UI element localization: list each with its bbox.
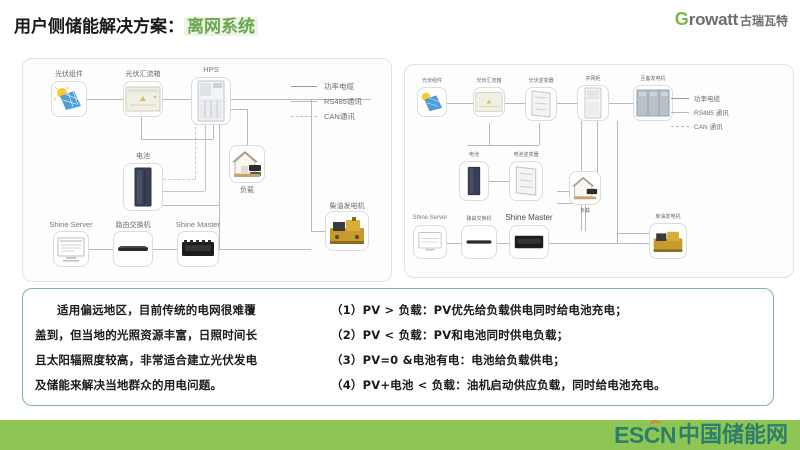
legend-swatch-can	[291, 116, 317, 117]
rule-item-3: （3）PV=0 &电池有电：电池给负载供电；	[331, 348, 765, 373]
wire-r-pv-to-combiner	[447, 103, 473, 104]
router-switch-icon	[117, 243, 149, 255]
offgrid-diagram-right: 光伏组件 光伏汇流箱 光伏逆变器 并网柜	[404, 64, 794, 278]
label-r-load-cabinet: 互备发电机	[640, 75, 665, 82]
label-r-pv-modules: 光伏组件	[422, 77, 442, 84]
router-switch-icon	[465, 237, 493, 247]
combiner-box-icon	[125, 85, 161, 113]
label-battery: 电池	[136, 151, 150, 161]
legend-item-r-rs485: RS485 通讯	[671, 107, 729, 117]
wire-r-combiner-to-inverter	[505, 103, 525, 104]
legend-swatch-rs485	[291, 101, 317, 102]
label-diesel-generator: 柴油发电机	[330, 201, 365, 211]
description-line-2: 盖到，但当地的光照资源丰富，日照时间长	[35, 323, 317, 348]
label-hps: HPS	[203, 65, 218, 74]
inverter-panel-icon	[529, 89, 553, 119]
node-r-load-cabinet[interactable]	[633, 85, 673, 121]
wire-hps-load-h	[229, 109, 247, 110]
node-r-bidirectional[interactable]	[577, 85, 609, 121]
logo-letter-g: G	[675, 10, 689, 28]
legend-left: 功率电缆 RS485通讯 CAN通讯	[291, 81, 362, 126]
watermark-escn-text: ESCN	[614, 422, 676, 448]
wire-pv-to-combiner	[87, 99, 123, 100]
legend-right: 功率电缆 RS485 通讯 CAN 通讯	[671, 93, 729, 135]
description-line-3: 且太阳辐照度较高，非常适合建立光伏发电	[35, 348, 317, 373]
house-load-icon	[571, 175, 599, 201]
wire-r-battery-to-inv	[489, 181, 509, 182]
rule-item-4: （4）PV+电池 < 负载：油机启动供应负载，同时给电池充电。	[331, 373, 765, 398]
node-r-battery[interactable]	[459, 161, 489, 201]
node-r-pv-inverter[interactable]	[525, 87, 557, 121]
label-r-load: 负载	[580, 207, 590, 214]
node-r-battery-inverter[interactable]	[509, 161, 543, 201]
battery-rack-icon	[132, 167, 154, 207]
wire-r-cabinet-v	[617, 121, 618, 243]
description-textbox: 适用偏远地区，目前传统的电网很难覆 盖到，但当地的光照资源丰富，日照时间长 且太…	[22, 288, 774, 406]
diesel-generator-icon	[652, 228, 684, 254]
node-shine-server[interactable]	[53, 231, 89, 267]
node-pv-combiner[interactable]	[123, 81, 163, 117]
page-title-highlight: 离网系统	[184, 17, 258, 36]
legend-label-r-power-cable: 功率电缆	[694, 93, 720, 103]
node-r-router-switch[interactable]	[461, 225, 497, 259]
label-r-battery-inverter: 电池逆变器	[513, 151, 538, 158]
solar-panel-icon	[419, 91, 445, 113]
wire-combiner-bus-h	[141, 139, 213, 140]
label-pv-modules: 光伏组件	[55, 69, 83, 79]
description-text-1: 适用偏远地区，目前传统的电网很难覆	[57, 303, 256, 317]
combiner-box-icon	[475, 91, 503, 113]
description-column: 适用偏远地区，目前传统的电网很难覆 盖到，但当地的光照资源丰富，日照时间长 且太…	[23, 289, 323, 405]
wire-bottom-bus-right	[219, 249, 311, 250]
wire-r-inverter-down	[539, 123, 540, 145]
legend-swatch-power-cable	[291, 86, 317, 87]
description-line-1: 适用偏远地区，目前传统的电网很难覆	[35, 298, 317, 323]
rule-item-1: （1）PV > 负载：PV优先给负载供电同时给电池充电；	[331, 298, 765, 323]
wire-hps-to-master-v	[219, 117, 220, 205]
converter-cabinet-icon	[582, 87, 604, 119]
node-r-pv-combiner[interactable]	[473, 87, 505, 117]
node-r-shine-server[interactable]	[413, 225, 447, 259]
escn-watermark: ESCN 中国储能网	[614, 424, 788, 447]
node-router-switch[interactable]	[113, 231, 153, 267]
legend-label-r-can: CAN 通讯	[694, 121, 723, 131]
legend-swatch-r-rs485	[671, 112, 689, 113]
wire-r-combiner-down	[489, 123, 490, 145]
label-r-shine-server: Shine Server	[413, 215, 448, 221]
shine-master-icon	[513, 234, 545, 250]
label-router-switch: 路由交换机	[116, 220, 151, 230]
wire-combiner-to-hps	[163, 99, 191, 100]
label-r-battery: 电池	[469, 151, 479, 158]
node-r-pv-modules[interactable]	[417, 87, 447, 117]
node-diesel-generator[interactable]	[325, 211, 369, 251]
legend-swatch-r-can	[671, 126, 689, 127]
rules-column: （1）PV > 负载：PV优先给负载供电同时给电池充电； （2）PV < 负载：…	[323, 289, 773, 405]
logo-chinese-name: 古瑞瓦特	[740, 15, 788, 27]
label-r-bidirectional: 并网柜	[585, 75, 600, 82]
watermark-chinese: 中国储能网	[678, 425, 788, 447]
page-title-main: 用户侧储能解决方案：	[14, 17, 184, 36]
wire-battery-power-h	[163, 205, 219, 206]
wire-r-to-generator	[617, 233, 649, 234]
shine-master-icon	[181, 240, 215, 258]
legend-swatch-r-power-cable	[671, 98, 689, 99]
solar-panel-icon	[54, 86, 84, 112]
legend-item-rs485: RS485通讯	[291, 96, 362, 107]
legend-item-can: CAN通讯	[291, 111, 362, 122]
wire-r-bidir-to-cabinet	[609, 103, 633, 104]
wire-rs485-hps-v	[205, 117, 206, 191]
wire-can-hps-battery-v	[195, 117, 196, 179]
node-r-diesel-generator[interactable]	[649, 223, 687, 259]
node-battery[interactable]	[123, 163, 163, 211]
wire-combiner-down	[141, 117, 142, 139]
page-title: 用户侧储能解决方案：离网系统	[14, 12, 258, 37]
label-r-router-switch: 路由交换机	[466, 215, 491, 222]
hps-cabinet-icon	[196, 80, 226, 122]
legend-item-power-cable: 功率电缆	[291, 81, 362, 92]
label-r-diesel-generator: 柴油发电机	[655, 213, 680, 220]
node-hps[interactable]	[191, 77, 231, 125]
rule-item-2: （2）PV < 负载：PV和电池同时供电负载；	[331, 323, 765, 348]
wire-r-mid-bus	[467, 145, 539, 146]
description-line-4: 及储能来解决当地群众的用电问题。	[35, 373, 317, 398]
server-monitor-icon	[56, 235, 86, 263]
legend-label-r-rs485: RS485 通讯	[694, 107, 729, 117]
node-r-load[interactable]	[569, 171, 601, 205]
wire-rs485-battery	[163, 191, 205, 192]
legend-item-r-can: CAN 通讯	[671, 121, 729, 131]
legend-item-r-power-cable: 功率电缆	[671, 93, 729, 103]
house-load-icon	[231, 149, 263, 179]
inverter-panel-icon	[513, 164, 539, 198]
legend-label-can: CAN通讯	[324, 111, 355, 122]
node-pv-modules[interactable]	[51, 81, 87, 117]
switch-cabinet-icon	[636, 89, 670, 117]
legend-label-power-cable: 功率电缆	[324, 81, 354, 92]
node-shine-master[interactable]	[177, 231, 219, 267]
server-monitor-icon	[417, 230, 443, 254]
label-r-shine-master: Shine Master	[505, 213, 552, 222]
slide-page: 用户侧储能解决方案：离网系统 G rowatt 古瑞瓦特	[0, 0, 800, 450]
node-load[interactable]	[229, 145, 265, 183]
legend-label-rs485: RS485通讯	[324, 96, 362, 107]
battery-rack-icon	[466, 164, 482, 198]
node-r-shine-master[interactable]	[509, 225, 549, 259]
watermark-escn: ESCN	[614, 424, 676, 447]
label-r-pv-inverter: 光伏逆变器	[528, 77, 553, 84]
label-load: 负载	[240, 185, 254, 195]
label-shine-server: Shine Server	[49, 220, 92, 229]
wire-can-battery-h	[163, 179, 195, 180]
growatt-logo: G rowatt 古瑞瓦特	[675, 10, 788, 28]
diesel-generator-icon	[328, 216, 366, 246]
label-r-pv-combiner: 光伏汇流箱	[476, 77, 501, 84]
label-pv-combiner: 光伏汇流箱	[126, 69, 161, 79]
wire-r-inverter-to-bidir	[557, 103, 577, 104]
slide-header: 用户侧储能解决方案：离网系统 G rowatt 古瑞瓦特	[0, 0, 800, 44]
offgrid-diagram-left: 光伏组件 光伏汇流箱 HPS	[22, 58, 392, 282]
watermark-accent-icon	[649, 419, 661, 431]
logo-wordmark: rowatt	[689, 11, 738, 28]
label-shine-master: Shine Master	[176, 220, 220, 229]
